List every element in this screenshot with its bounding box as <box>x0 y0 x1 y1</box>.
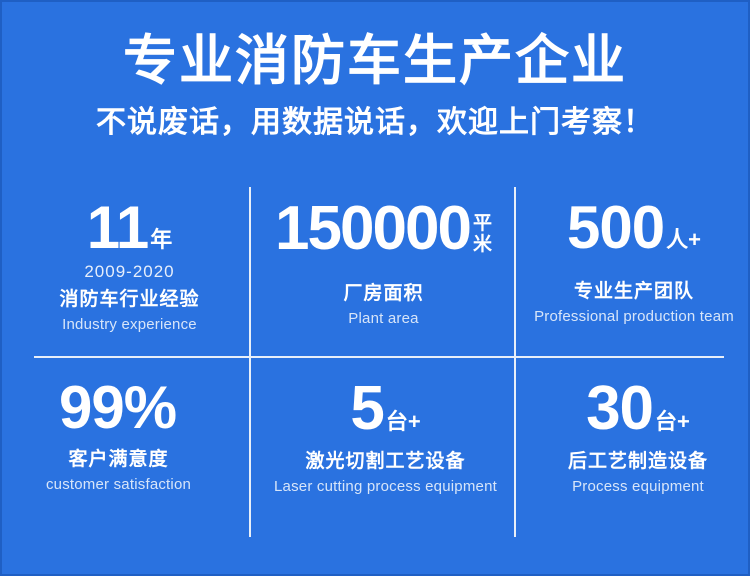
stat-unit: 台+ <box>655 411 690 437</box>
page-title: 专业消防车生产企业 <box>2 2 748 92</box>
stat-label-en: customer satisfaction <box>46 476 191 494</box>
banner-header: 专业消防车生产企业 不说废话，用数据说话，欢迎上门考察！ <box>2 2 748 142</box>
stats-grid: 11 年 2009-2020 消防车行业经验 Industry experien… <box>2 180 750 546</box>
stat-year-range: 2009-2020 <box>84 263 174 282</box>
stat-label-cn: 消防车行业经验 <box>59 289 199 312</box>
stat-figure: 99% <box>59 380 176 435</box>
stat-figure: 30 <box>586 380 653 437</box>
stat-unit: 年 <box>150 229 172 255</box>
stat-figure-line: 5 台+ <box>350 380 420 437</box>
stat-cell-customer-satisfaction: 99% 客户满意度 customer satisfaction <box>2 356 251 546</box>
stat-cell-industry-experience: 11 年 2009-2020 消防车行业经验 Industry experien… <box>2 180 251 356</box>
stat-figure: 150000 <box>275 200 470 257</box>
stat-label-cn: 后工艺制造设备 <box>568 451 708 474</box>
stat-cell-production-team: 500 人+ 专业生产团队 Professional production te… <box>516 180 750 356</box>
stat-label-cn: 专业生产团队 <box>574 281 694 304</box>
stat-unit-stacked: 平 米 <box>473 214 492 257</box>
stat-label-cn: 客户满意度 <box>68 449 168 472</box>
stat-figure-line: 150000 平 米 <box>275 200 492 257</box>
company-stats-banner: 专业消防车生产企业 不说废话，用数据说话，欢迎上门考察！ 11 年 2009-2… <box>0 0 750 576</box>
stat-label-en: Laser cutting process equipment <box>274 478 497 496</box>
stat-label-en: Plant area <box>348 310 418 328</box>
stat-figure-line: 500 人+ <box>567 200 701 255</box>
stat-figure-line: 99% <box>59 380 178 435</box>
stat-label-en: Industry experience <box>62 316 197 334</box>
stat-figure-line: 30 台+ <box>586 380 690 437</box>
stat-cell-plant-area: 150000 平 米 厂房面积 Plant area <box>251 180 516 356</box>
stat-figure-line: 11 年 <box>87 200 172 255</box>
stat-label-cn: 激光切割工艺设备 <box>305 451 465 474</box>
stat-label-en: Process equipment <box>572 478 704 496</box>
stat-figure: 500 <box>567 200 664 255</box>
stat-cell-laser-cutting-equipment: 5 台+ 激光切割工艺设备 Laser cutting process equi… <box>251 356 516 546</box>
stat-figure: 5 <box>350 380 383 437</box>
page-subtitle: 不说废话，用数据说话，欢迎上门考察！ <box>2 92 748 142</box>
stat-cell-process-equipment: 30 台+ 后工艺制造设备 Process equipment <box>516 356 750 546</box>
stat-figure: 11 <box>87 200 148 255</box>
stat-label-cn: 厂房面积 <box>343 283 423 306</box>
stat-unit: 人+ <box>666 229 701 255</box>
stat-unit-char-2: 米 <box>473 235 492 256</box>
stat-unit-char-1: 平 <box>473 214 492 235</box>
stat-label-en: Professional production team <box>534 308 734 326</box>
stat-unit: 台+ <box>386 411 421 437</box>
